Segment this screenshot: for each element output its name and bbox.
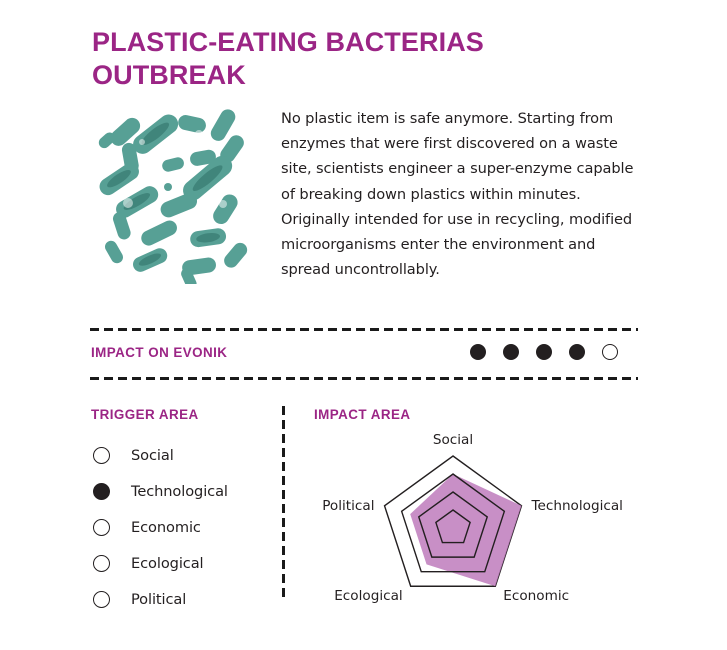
rating-dot-2[interactable] [503, 344, 519, 360]
trigger-label-ecological: Ecological [131, 555, 204, 572]
divider-bottom [90, 377, 638, 380]
radar-label-political: Political [322, 498, 374, 514]
rating-dot-1[interactable] [470, 344, 486, 360]
rating-dot-5[interactable] [602, 344, 618, 360]
radar-label-ecological: Ecological [334, 588, 402, 604]
radio-icon-ecological[interactable] [93, 555, 110, 572]
radio-icon-social[interactable] [93, 447, 110, 464]
radio-icon-technological[interactable] [93, 483, 110, 500]
trigger-item-political[interactable]: Political [93, 581, 273, 617]
trigger-label-political: Political [131, 591, 186, 608]
impact-area-radar-chart: SocialTechnologicalEconomicEcologicalPol… [310, 428, 650, 613]
radar-label-economic: Economic [503, 588, 569, 604]
impact-on-evonik-label: Impact on Evonik [91, 345, 227, 360]
rating-dot-3[interactable] [536, 344, 552, 360]
impact-on-evonik-rating[interactable] [470, 344, 618, 360]
divider-vertical [282, 406, 285, 602]
trigger-item-ecological[interactable]: Ecological [93, 545, 273, 581]
trigger-item-social[interactable]: Social [93, 437, 273, 473]
trigger-label-technological: Technological [131, 483, 228, 500]
rating-dot-4[interactable] [569, 344, 585, 360]
card-description: No plastic item is safe anymore. Startin… [281, 106, 647, 282]
radar-series-polygon [410, 474, 521, 586]
page-title: Plastic-Eating Bacterias Outbreak [92, 26, 552, 92]
radar-label-technological: Technological [531, 498, 623, 514]
radar-label-social: Social [433, 432, 473, 448]
radio-icon-political[interactable] [93, 591, 110, 608]
bacteria-image [92, 106, 254, 284]
radar-svg: SocialTechnologicalEconomicEcologicalPol… [310, 428, 650, 613]
trigger-area-list: Social Technological Economic Ecological… [93, 437, 273, 617]
bacteria-illustration [92, 106, 254, 284]
trigger-label-social: Social [131, 447, 174, 464]
radio-icon-economic[interactable] [93, 519, 110, 536]
trigger-item-economic[interactable]: Economic [93, 509, 273, 545]
divider-top [90, 328, 638, 331]
trigger-label-economic: Economic [131, 519, 201, 536]
trigger-area-heading: Trigger Area [91, 407, 199, 422]
trigger-item-technological[interactable]: Technological [93, 473, 273, 509]
impact-area-heading: Impact Area [314, 407, 410, 422]
